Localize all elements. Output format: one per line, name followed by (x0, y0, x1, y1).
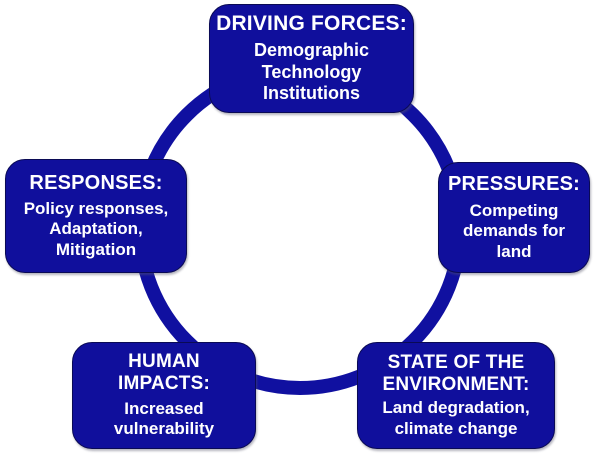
node-state-of-the-environment-body: Land degradation, climate change (382, 398, 529, 439)
node-human-impacts[interactable]: HUMAN IMPACTS: Increased vulnerability (72, 342, 256, 449)
node-responses-title: RESPONSES: (29, 172, 162, 195)
diagram-canvas: DRIVING FORCES: Demographic Technology I… (0, 0, 600, 454)
node-pressures-title: PRESSURES: (448, 173, 580, 196)
node-driving-forces[interactable]: DRIVING FORCES: Demographic Technology I… (209, 4, 414, 113)
cycle-ring-circle (140, 68, 460, 388)
node-driving-forces-title: DRIVING FORCES: (216, 12, 407, 36)
node-human-impacts-title: HUMAN IMPACTS: (118, 351, 210, 394)
node-driving-forces-body: Demographic Technology Institutions (254, 40, 369, 105)
node-state-of-the-environment-title: STATE OF THE ENVIRONMENT: (382, 352, 529, 395)
node-state-of-the-environment[interactable]: STATE OF THE ENVIRONMENT: Land degradati… (357, 342, 555, 449)
node-human-impacts-body: Increased vulnerability (114, 399, 214, 440)
node-pressures[interactable]: PRESSURES: Competing demands for land (438, 162, 590, 273)
node-responses[interactable]: RESPONSES: Policy responses, Adaptation,… (5, 159, 187, 273)
node-responses-body: Policy responses, Adaptation, Mitigation (24, 199, 169, 260)
node-pressures-body: Competing demands for land (463, 201, 565, 262)
